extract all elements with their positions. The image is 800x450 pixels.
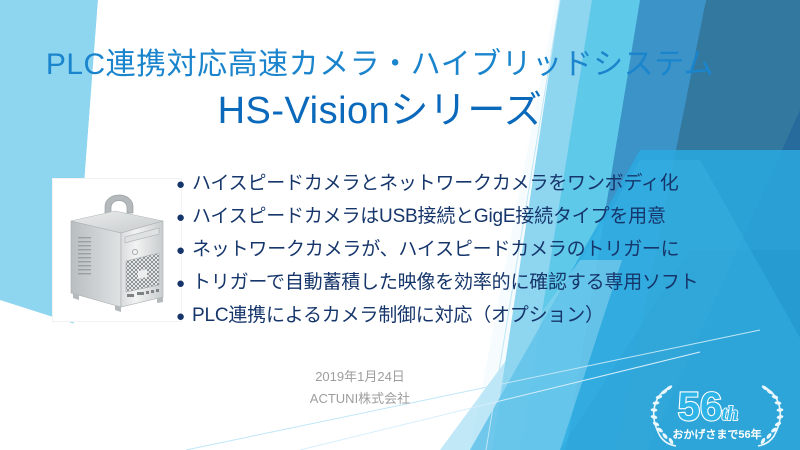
list-item: ● トリガーで自動蓄積した映像を効率的に確認する専用ソフト [176,267,776,300]
list-item: ● ハイスピードカメラとネットワークカメラをワンボディ化 [176,168,776,201]
product-illustration [53,179,181,321]
anniversary-badge: 56 th おかげさまで56年 [638,378,796,448]
bullet-dot-icon: ● [176,175,192,194]
product-image [52,178,182,322]
list-item-label: PLC連携によるカメラ制御に対応（オプション） [192,300,604,327]
list-item-label: トリガーで自動蓄積した映像を効率的に確認する専用ソフト [192,267,698,294]
company-name: ACTUNI株式会社 [210,388,510,410]
feature-list: ● ハイスピードカメラとネットワークカメラをワンボディ化 ● ハイスピードカメラ… [176,168,776,333]
product-side-face [71,221,121,307]
bullet-dot-icon: ● [176,307,192,326]
list-item-label: ハイスピードカメラとネットワークカメラをワンボディ化 [192,168,679,195]
footer-block: 2019年1月24日 ACTUNI株式会社 [210,366,510,410]
badge-ordinal: th [722,403,739,425]
anniversary-badge-graphic: 56 th おかげさまで56年 [638,378,796,448]
list-item-label: ハイスピードカメラはUSB接続とGigE接続タイプを用意 [192,201,666,228]
bullet-dot-icon: ● [176,208,192,227]
page-subtitle: HS-Visionシリーズ [0,86,760,136]
presentation-date: 2019年1月24日 [210,366,510,388]
list-item: ● PLC連携によるカメラ制御に対応（オプション） [176,300,776,333]
slide-canvas: PLC連携対応高速カメラ・ハイブリッドシステム HS-Visionシリーズ [0,0,800,450]
page-title: PLC連携対応高速カメラ・ハイブリッドシステム [0,44,760,86]
list-item: ● ハイスピードカメラはUSB接続とGigE接続タイプを用意 [176,201,776,234]
bullet-dot-icon: ● [176,274,192,293]
bullet-dot-icon: ● [176,241,192,260]
badge-caption: おかげさまで56年 [672,427,761,441]
title-block: PLC連携対応高速カメラ・ハイブリッドシステム HS-Visionシリーズ [0,44,760,136]
product-foot-right [157,297,163,303]
badge-number: 56 [678,385,723,429]
list-item: ● ネットワークカメラが、ハイスピードカメラのトリガーに [176,234,776,267]
list-item-label: ネットワークカメラが、ハイスピードカメラのトリガーに [192,234,679,261]
